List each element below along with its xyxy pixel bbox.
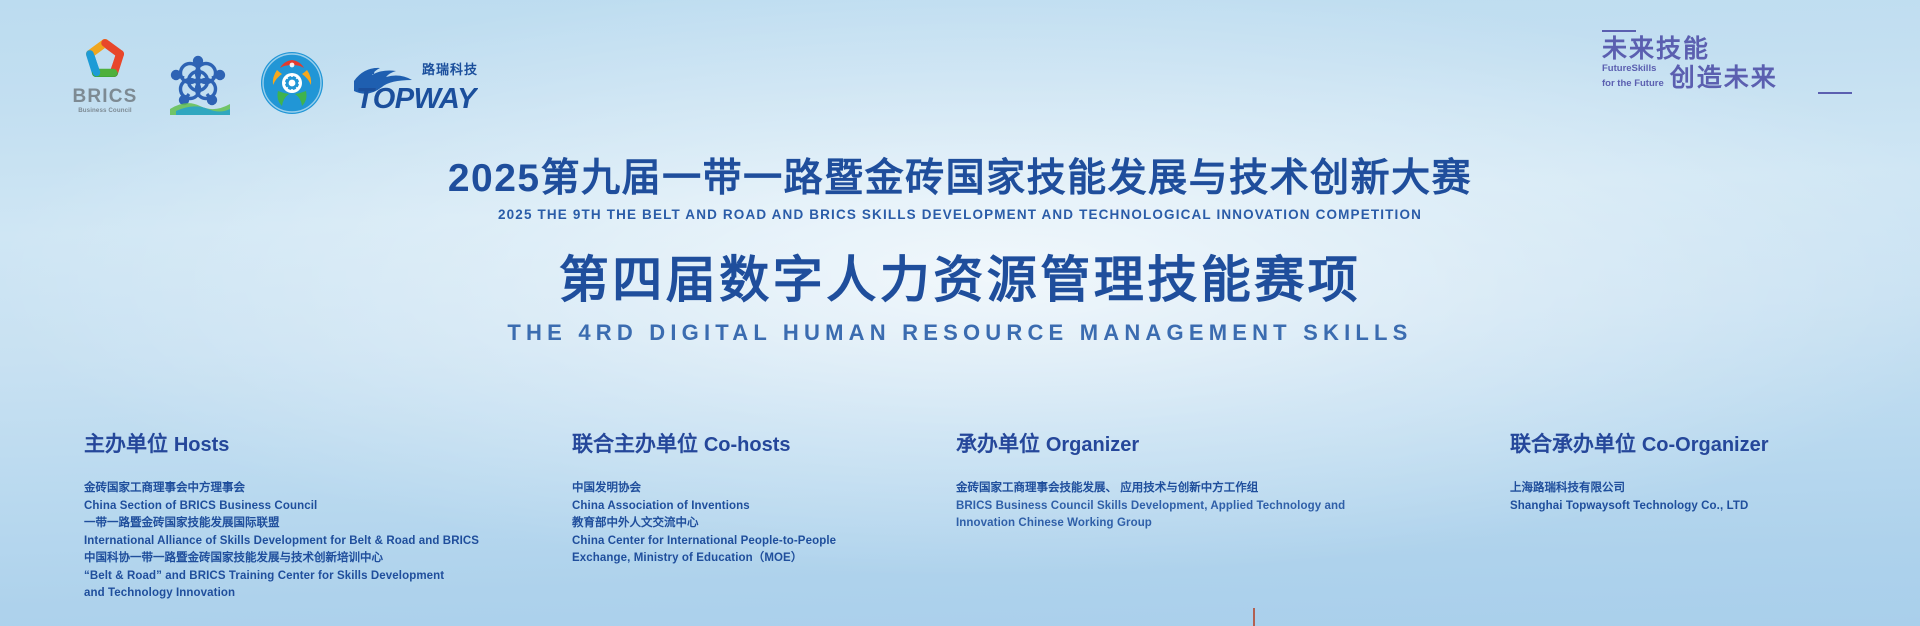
organizer-lines: 金砖国家工商理事会技能发展、 应用技术与创新中方工作组 BRICS Busine… (956, 480, 1386, 532)
organizer-column-organizer: 承办单位 Organizer 金砖国家工商理事会技能发展、 应用技术与创新中方工… (956, 432, 1386, 533)
bottom-marker (1253, 608, 1255, 626)
future-skills-cn-top: 未来技能 (1602, 35, 1852, 63)
organizer-line: 上海路瑞科技有限公司 (1510, 480, 1910, 497)
brics-star-icon (79, 36, 131, 84)
organizer-column-co-organizer: 联合承办单位 Co-Organizer 上海路瑞科技有限公司 Shanghai … (1510, 432, 1910, 515)
organizer-lines: 中国发明协会 China Association of Inventions 教… (572, 480, 972, 567)
organizer-line: and Technology Innovation (84, 585, 594, 602)
future-skills-block: 未来技能 FutureSkills for the Future 创造未来 (1602, 30, 1852, 94)
main-title-cn: 2025第九届一带一路暨金砖国家技能发展与技术创新大赛 (0, 158, 1920, 200)
topway-logo: TOPWAY 路瑞科技 (348, 55, 478, 115)
main-title-en: 2025 THE 9TH THE BELT AND ROAD AND BRICS… (0, 207, 1920, 222)
organizer-line: 中国发明协会 (572, 480, 972, 497)
organizer-line: “Belt & Road” and BRICS Training Center … (84, 568, 594, 585)
organizer-line: 中国科协一带一路暨金砖国家技能发展与技术创新培训中心 (84, 550, 594, 567)
organizer-line: China Center for International People-to… (572, 533, 972, 550)
title-block: 2025第九届一带一路暨金砖国家技能发展与技术创新大赛 2025 THE 9TH… (0, 158, 1920, 346)
organizer-heading-en: Organizer (1046, 434, 1139, 456)
organizer-line: China Section of BRICS Business Council (84, 498, 594, 515)
logo-strip: BRICS Business Council (72, 36, 478, 115)
organizer-line: 一带一路暨金砖国家技能发展国际联盟 (84, 515, 594, 532)
organizer-lines: 上海路瑞科技有限公司 Shanghai Topwaysoft Technolog… (1510, 480, 1910, 515)
future-skills-cn-bottom: 创造未来 (1670, 64, 1778, 92)
skills-competition-emblem-icon (260, 51, 324, 115)
organizer-line: BRICS Business Council Skills Developmen… (956, 498, 1386, 515)
organizer-heading: 联合承办单位 Co-Organizer (1510, 432, 1910, 457)
future-skills-en-line1: FutureSkills (1602, 63, 1664, 78)
organizer-heading-cn: 联合主办单位 (572, 433, 698, 456)
svg-text:TOPWAY: TOPWAY (356, 83, 478, 115)
organizer-heading-en: Hosts (174, 434, 230, 456)
brics-logo-text: BRICS (72, 87, 138, 106)
organizers-section: 主办单位 Hosts 金砖国家工商理事会中方理事会 China Section … (0, 432, 1920, 612)
brics-logo-subtext: Business Council (72, 107, 138, 115)
organizer-line: Innovation Chinese Working Group (956, 515, 1386, 532)
organizer-line: Exchange, Ministry of Education（MOE） (572, 550, 972, 567)
organizer-column-co-hosts: 联合主办单位 Co-hosts 中国发明协会 China Association… (572, 432, 972, 568)
sub-title-cn: 第四届数字人力资源管理技能赛项 (0, 252, 1920, 308)
organizer-line: 教育部中外人文交流中心 (572, 515, 972, 532)
future-skills-rule-bottom (1818, 92, 1852, 94)
brics-interlock-logo (162, 53, 236, 115)
organizer-heading-cn: 承办单位 (956, 433, 1040, 456)
organizer-heading-cn: 主办单位 (84, 433, 168, 456)
organizer-heading-en: Co-Organizer (1642, 434, 1769, 456)
future-skills-en-line2: for the Future (1602, 78, 1664, 93)
organizer-column-hosts: 主办单位 Hosts 金砖国家工商理事会中方理事会 China Section … (84, 432, 594, 602)
competition-banner: BRICS Business Council (0, 0, 1920, 626)
organizer-line: Shanghai Topwaysoft Technology Co., LTD (1510, 498, 1910, 515)
organizer-line: China Association of Inventions (572, 498, 972, 515)
future-skills-rule-top (1602, 30, 1636, 32)
organizer-heading: 联合主办单位 Co-hosts (572, 432, 972, 457)
organizer-lines: 金砖国家工商理事会中方理事会 China Section of BRICS Bu… (84, 480, 594, 602)
organizer-heading-cn: 联合承办单位 (1510, 433, 1636, 456)
brics-business-council-logo: BRICS Business Council (72, 36, 138, 115)
organizer-line: 金砖国家工商理事会中方理事会 (84, 480, 594, 497)
topway-cn-text: 路瑞科技 (422, 59, 478, 78)
organizer-heading: 主办单位 Hosts (84, 432, 594, 457)
organizer-heading-en: Co-hosts (704, 434, 791, 456)
organizer-heading: 承办单位 Organizer (956, 432, 1386, 457)
organizer-line: International Alliance of Skills Develop… (84, 533, 594, 550)
organizer-line: 金砖国家工商理事会技能发展、 应用技术与创新中方工作组 (956, 480, 1386, 497)
sub-title-en: THE 4RD DIGITAL HUMAN RESOURCE MANAGEMEN… (0, 320, 1920, 346)
